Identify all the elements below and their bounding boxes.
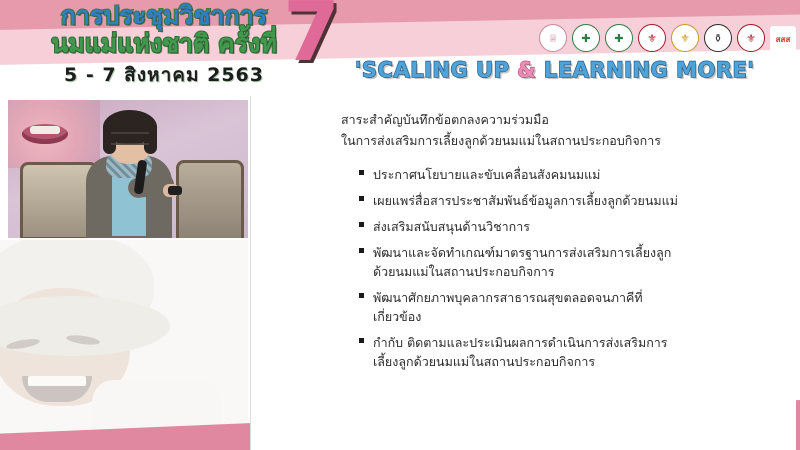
content-heading: สาระสำคัญบันทึกข้อตกลงความร่วมมือ ในการส…: [341, 110, 778, 151]
bullet-square-icon: [359, 196, 364, 201]
conference-title-line2: นมแม่แห่งชาติ ครั้งที่: [14, 30, 314, 57]
logo-black-emblem-icon: ⚱: [704, 24, 732, 52]
tagline-suffix: LEARNING MORE': [536, 58, 754, 82]
edition-number: 7: [283, 0, 340, 74]
logo-thaihealth-icon: สสส: [770, 26, 796, 52]
logo-green-health-1-icon: ✚: [572, 24, 600, 52]
bullet-text-line1: พัฒนาและจัดทำเกณฑ์มาตรฐานการส่งเสริมการเ…: [373, 245, 671, 260]
content-heading-line2: ในการส่งเสริมการเลี้ยงลูกด้วยนมแม่ในสถาน…: [341, 131, 778, 152]
bullet-item: เผยแพร่สื่อสารประชาสัมพันธ์ข้อมูลการเลี้…: [359, 191, 768, 210]
content-bullet-list: ประกาศนโยบายและขับเคลื่อนสังคมนมแม่เผยแพ…: [289, 165, 778, 371]
logo-ministry-emblem-icon: ♕: [539, 24, 567, 52]
bullet-item: ประกาศนโยบายและขับเคลื่อนสังคมนมแม่: [359, 165, 768, 184]
logo-gold-crest-icon: ⚜: [671, 24, 699, 52]
conference-title-block: การประชุมวิชาการ นมแม่แห่งชาติ ครั้งที่ …: [14, 2, 314, 90]
bullet-text-line1: ส่งเสริมสนับสนุนด้านวิชาการ: [373, 219, 530, 234]
conference-title-line1: การประชุมวิชาการ: [14, 2, 314, 29]
bullet-text-line1: ประกาศนโยบายและขับเคลื่อนสังคมนมแม่: [373, 167, 600, 182]
bullet-square-icon: [359, 293, 364, 298]
bullet-item: ส่งเสริมสนับสนุนด้านวิชาการ: [359, 217, 768, 236]
conference-tagline: 'SCALING UP & LEARNING MORE': [355, 58, 754, 82]
tagline-prefix: 'SCALING UP: [355, 58, 517, 82]
logo-green-health-2-icon: ✚: [605, 24, 633, 52]
content-panel: สาระสำคัญบันทึกข้อตกลงความร่วมมือ ในการส…: [250, 96, 796, 450]
bullet-text-line2: เกี่ยวข้อง: [373, 307, 768, 326]
photo-speaker: [8, 100, 248, 238]
photo-child: [0, 240, 248, 435]
bullet-item: พัฒนาและจัดทำเกณฑ์มาตรฐานการส่งเสริมการเ…: [359, 243, 768, 281]
logo-red-crest-icon: ⚜: [638, 24, 666, 52]
bullet-square-icon: [359, 170, 364, 175]
bullet-square-icon: [359, 338, 364, 343]
logo-red-seal-icon: ⚜: [737, 24, 765, 52]
bullet-text-line2: ด้วยนมแม่ในสถานประกอบกิจการ: [373, 262, 768, 281]
sponsor-logo-row: ♕✚✚⚜⚜⚱⚜สสส: [539, 24, 796, 52]
bullet-text-line1: กำกับ ติดตามและประเมินผลการดำเนินการส่งเ…: [373, 335, 668, 350]
presentation-slide: การประชุมวิชาการ นมแม่แห่งชาติ ครั้งที่ …: [0, 0, 800, 450]
bullet-square-icon: [359, 248, 364, 253]
bullet-text-line1: เผยแพร่สื่อสารประชาสัมพันธ์ข้อมูลการเลี้…: [373, 193, 678, 208]
bullet-text-line2: เลี้ยงลูกด้วยนมแม่ในสถานประกอบกิจการ: [373, 352, 768, 371]
conference-date: 5 - 7 สิงหาคม 2563: [14, 60, 314, 90]
bullet-square-icon: [359, 222, 364, 227]
bullet-item: กำกับ ติดตามและประเมินผลการดำเนินการส่งเ…: [359, 333, 768, 371]
bullet-item: พัฒนาศักยภาพบุคลากรสาธารณสุขตลอดจนภาคีที…: [359, 288, 768, 326]
bullet-text-line1: พัฒนาศักยภาพบุคลากรสาธารณสุขตลอดจนภาคีที…: [373, 290, 643, 305]
content-heading-line1: สาระสำคัญบันทึกข้อตกลงความร่วมมือ: [341, 110, 778, 131]
tagline-ampersand: &: [517, 58, 536, 82]
